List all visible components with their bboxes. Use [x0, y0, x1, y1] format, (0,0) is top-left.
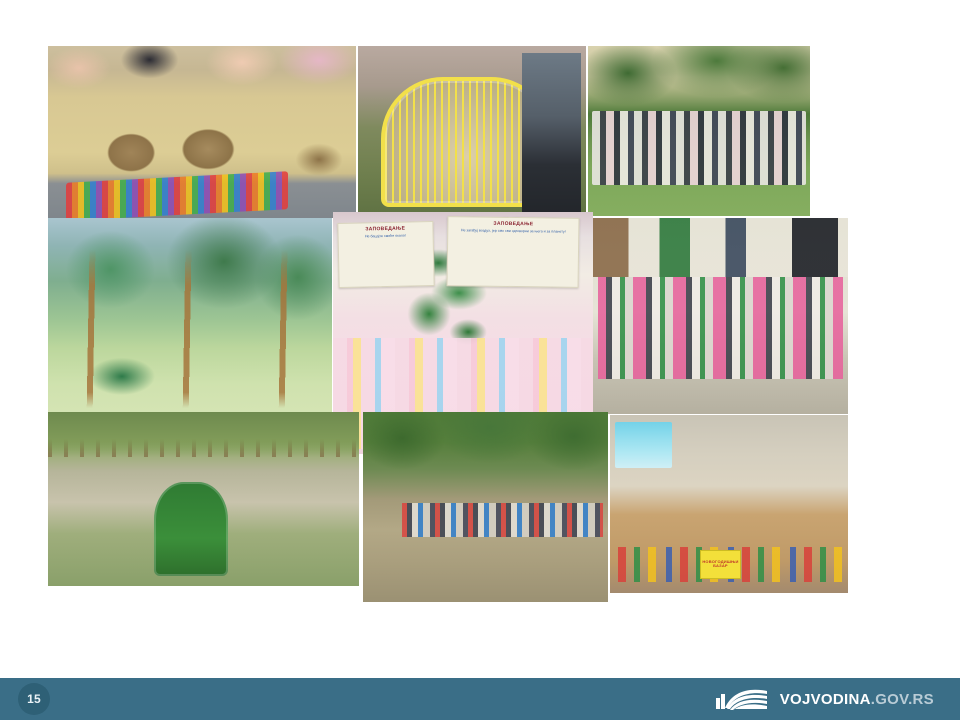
- photo-bird-cage: [358, 46, 586, 216]
- photo-seed-sorting: [48, 46, 356, 218]
- craft-poster-right-title: ЗАПОВЕДАЊЕ: [449, 220, 579, 228]
- collage-photo-7: [48, 412, 359, 586]
- photo-outdoor-gathering: [363, 412, 608, 602]
- photo-recycling-bin: [48, 412, 359, 586]
- photo-watercolour-forest: [48, 218, 332, 416]
- collage-photo-3: [588, 46, 810, 216]
- collage-photo-1: [48, 46, 356, 218]
- collage-photo-4: [48, 218, 332, 416]
- photo-collage: ЗАПОВЕДАЊЕ Не бацајте смеће около! ЗАПОВ…: [48, 46, 848, 602]
- collage-photo-2: [358, 46, 586, 216]
- presentation-slide: ЗАПОВЕДАЊЕ Не бацајте смеће около! ЗАПОВ…: [0, 0, 960, 720]
- craft-poster-left-body: Не бацајте смеће около!: [339, 233, 433, 240]
- craft-poster-right-body: Не загађуј воздух, јер смо сви одговорни…: [449, 228, 579, 235]
- brand-tld: .GOV.RS: [871, 691, 934, 708]
- collage-photo-9: НОВОГОДИШЊИ БАЗАР: [610, 415, 848, 593]
- craft-poster-right: ЗАПОВЕДАЊЕ Не загађуј воздух, јер смо св…: [447, 216, 580, 288]
- collage-photo-6: [593, 218, 848, 414]
- bazaar-stall-sign: НОВОГОДИШЊИ БАЗАР: [700, 550, 740, 579]
- brand-wordmark: VOJVODINA.GOV.RS: [780, 691, 934, 708]
- craft-poster-left: ЗАПОВЕДАЊЕ Не бацајте смеће около!: [338, 221, 435, 288]
- brand-logo[interactable]: VOJVODINA.GOV.RS: [714, 686, 934, 712]
- slide-footer: 15 VOJVODINA.GOV.RS: [0, 678, 960, 720]
- photo-classroom-green-bags: [593, 218, 848, 414]
- page-number-badge: 15: [18, 683, 50, 715]
- brand-name: VOJVODINA: [780, 691, 871, 708]
- photo-students-lawn: [588, 46, 810, 216]
- collage-photo-8: [363, 412, 608, 602]
- vojvodina-wave-logo-icon: [714, 686, 770, 712]
- craft-poster-left-title: ЗАПОВЕДАЊЕ: [339, 225, 433, 233]
